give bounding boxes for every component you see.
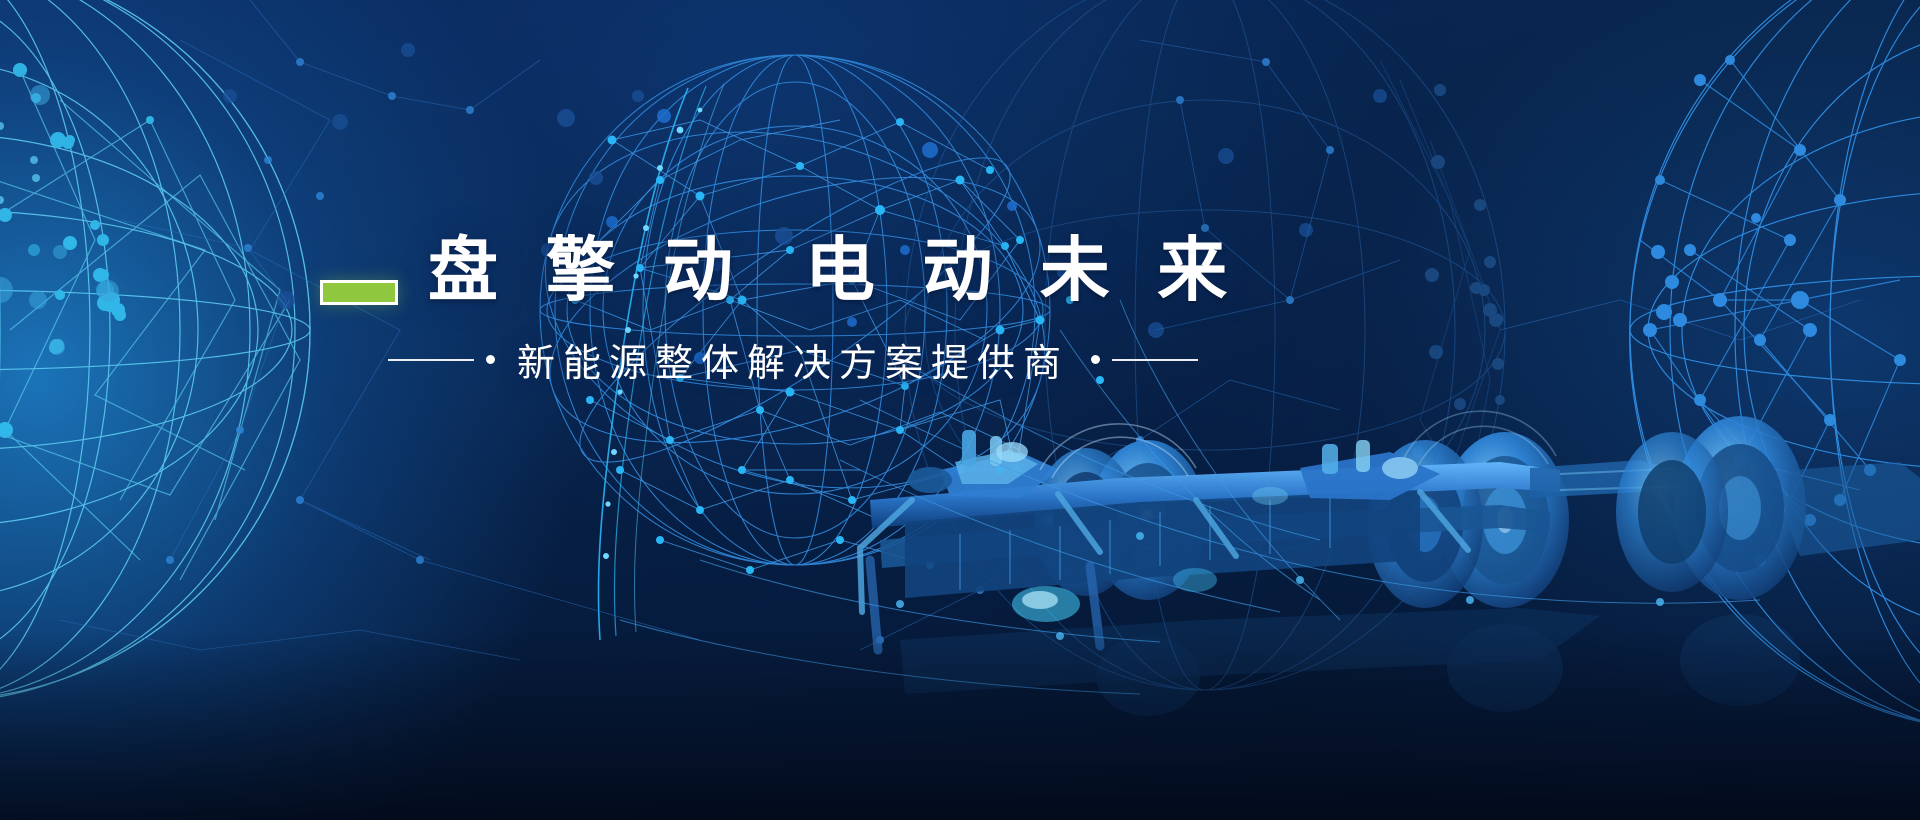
wheel-far-rear-inner [1616, 432, 1728, 592]
network-graphics-layer [0, 0, 1920, 820]
headline-text: 盘 擎 动电 动 未 来 [428, 231, 1241, 309]
headline-part-2: 电 动 未 来 [805, 231, 1241, 309]
subtitle-rule-right [1112, 359, 1198, 361]
hero-banner: 盘 擎 动电 动 未 来 新能源整体解决方案提供商 [0, 0, 1920, 820]
subtitle-dot-right [1091, 355, 1100, 364]
headline-part-1: 盘 擎 动 [428, 231, 747, 309]
subtitle-row: 新能源整体解决方案提供商 [388, 332, 1260, 387]
headline-accent-dash [320, 280, 398, 305]
hero-text-block: 盘 擎 动电 动 未 来 新能源整体解决方案提供商 [320, 228, 1260, 387]
headline: 盘 擎 动电 动 未 来 [320, 228, 1260, 312]
subtitle-dot-left [486, 355, 495, 364]
globe-left [0, 0, 358, 748]
subtitle-text: 新能源整体解决方案提供商 [517, 332, 1069, 387]
chassis-rear-shell [1786, 462, 1920, 556]
chassis-reflection [900, 608, 1800, 716]
subtitle-rule-left [388, 359, 474, 361]
